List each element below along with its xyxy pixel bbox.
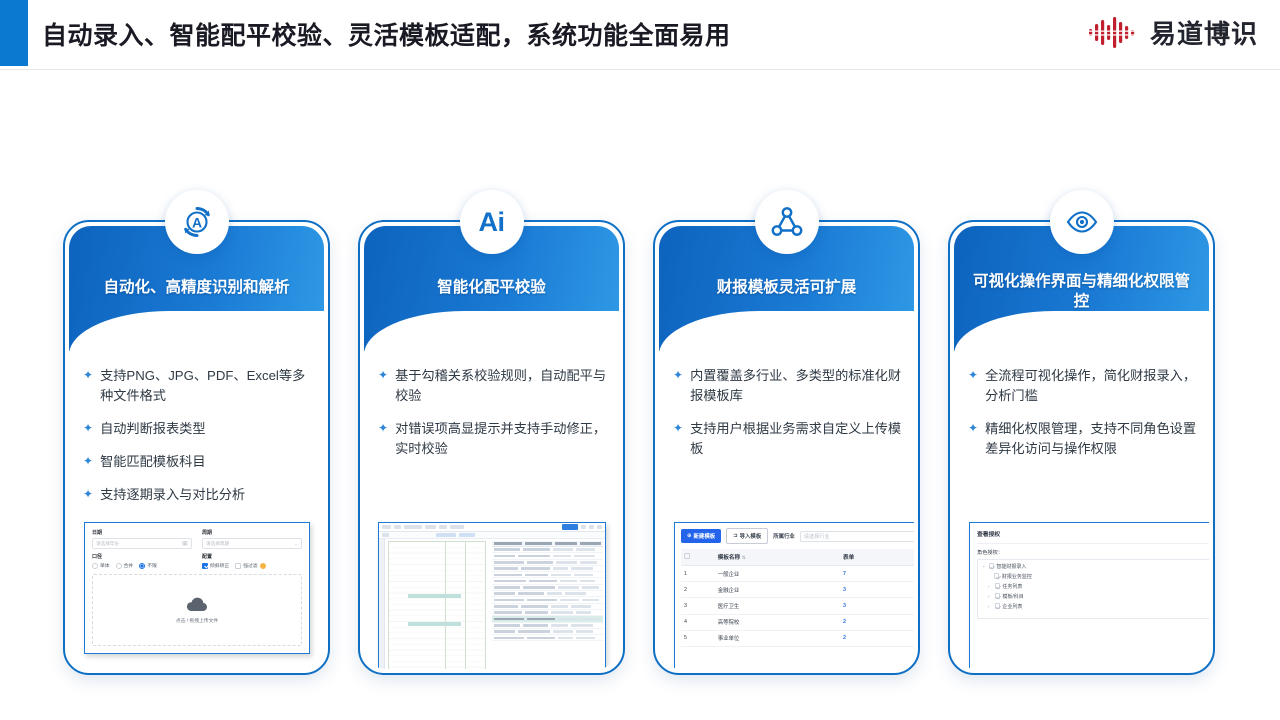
checkbox-icon[interactable] (995, 593, 1000, 598)
card-2-title: 智能化配平校验 (376, 278, 607, 298)
checkbox-icon (684, 553, 690, 559)
bullet-diamond-icon: ✦ (83, 452, 93, 471)
new-template-button[interactable]: ⊕ 新建模板 (681, 529, 721, 543)
checkbox-icon[interactable] (995, 603, 1000, 608)
tree-node-label: 企业列表 (1002, 603, 1022, 610)
toolbar-chip (589, 525, 594, 529)
tree-node[interactable]: › 任务列表 (982, 583, 1209, 590)
checkbox-checked-icon (202, 563, 208, 569)
bullet-label: 智能匹配模板科目 (100, 452, 206, 472)
file-dropzone[interactable]: 点击 / 拖拽上传文件 (92, 574, 302, 646)
row-name: 医疗卫生 (715, 598, 840, 614)
header-accent-bar (0, 0, 28, 66)
list-item: ✦ 内置覆盖多行业、多类型的标准化财报模板库 (673, 366, 903, 406)
cloud-upload-icon (186, 597, 208, 613)
sort-icon: ⇅ (742, 555, 746, 560)
row-name: 事业单位 (715, 630, 840, 646)
dialog-divider (977, 543, 1209, 544)
import-template-label: 导入模板 (740, 532, 762, 540)
toolbar-chip (425, 525, 436, 529)
radio-option-single[interactable]: 单体 (92, 562, 110, 569)
list-item: ✦ 精细化权限管理，支持不同角色设置差异化访问与操作权限 (968, 419, 1198, 459)
document-preview-pane (385, 539, 489, 669)
card-1-bullets: ✦ 支持PNG、JPG、PDF、Excel等多种文件格式 ✦ 自动判断报表类型 … (83, 366, 313, 518)
role-permission-label: 角色授权： (977, 549, 1209, 556)
sheet-column-divider (465, 542, 466, 669)
bullet-label: 对错误项高显提示并支持手动修正，实时校验 (395, 419, 608, 459)
row-index: 3 (681, 598, 715, 614)
radio-icon (116, 563, 122, 569)
highlight-row (408, 622, 461, 626)
row-name: 高等院校 (715, 614, 840, 630)
row-forms-count[interactable]: 7 (840, 566, 914, 582)
caliber-radio-group: 单体 合并 不限 (92, 562, 192, 569)
tree-node-label: 任务列表 (1002, 583, 1022, 590)
chevron-right-icon[interactable]: › (988, 594, 992, 599)
row-name: 金融企业 (715, 582, 840, 598)
ai-icon-label: Ai (479, 209, 505, 236)
card-2-screenshot-financial-view (378, 522, 606, 669)
bullet-label: 支持用户根据业务需求自定义上传模板 (690, 419, 903, 459)
industry-filter-label: 所属行业 (773, 532, 795, 540)
app-toolbar (379, 523, 605, 532)
radio-selected-icon (139, 563, 145, 569)
table-row (492, 635, 603, 641)
template-table: 模板名称 ⇅ 表单 1 一般企业 7 2 (681, 549, 914, 647)
list-item: ✦ 支持用户根据业务需求自定义上传模板 (673, 419, 903, 459)
brand-mark-icon (1088, 16, 1140, 50)
toolbar-chip (597, 525, 602, 529)
list-item: ✦ 全流程可视化操作，简化财报录入，分析门槛 (968, 366, 1198, 406)
row-index: 4 (681, 614, 715, 630)
table-row[interactable]: 1 一般企业 7 (681, 566, 914, 582)
list-item: ✦ 支持PNG、JPG、PDF、Excel等多种文件格式 (83, 366, 313, 406)
tree-node-label: 智能财报录入 (996, 563, 1026, 570)
radio-label: 不限 (147, 562, 157, 569)
feature-card-1: 自动化、高精度识别和解析 ✦ 支持PNG、JPG、PDF、Excel等多种文件格… (63, 220, 330, 675)
chevron-down-icon[interactable]: ⌄ (982, 563, 986, 569)
config-checkbox-group: 倾斜矫正 强过滤 (202, 562, 302, 569)
page-header: 自动录入、智能配平校验、灵活模板适配，系统功能全面易用 易道博识 (0, 0, 1280, 70)
date-field-label: 日期 (92, 529, 192, 536)
period-select[interactable]: 请选择周期 ⌄ (202, 538, 302, 549)
dropzone-caption: 点击 / 拖拽上传文件 (176, 617, 218, 624)
period-placeholder: 请选择周期 (206, 541, 229, 547)
column-header (555, 542, 576, 545)
sheet-column-divider (445, 542, 446, 669)
config-group-label: 配置 (202, 553, 302, 560)
toolbar-chip (450, 525, 464, 529)
tree-node-label: 模板/科目 (1002, 593, 1023, 600)
table-header-row: 模板名称 ⇅ 表单 (681, 549, 914, 566)
bullet-diamond-icon: ✦ (968, 366, 978, 385)
checkbox-label: 倾斜矫正 (210, 562, 229, 569)
card-3-bullets: ✦ 内置覆盖多行业、多类型的标准化财报模板库 ✦ 支持用户根据业务需求自定义上传… (673, 366, 903, 472)
list-item: ✦ 基于勾稽关系校验规则，自动配平与校验 (378, 366, 608, 406)
eye-icon (1050, 190, 1114, 254)
checkbox-icon[interactable] (989, 563, 994, 568)
bullet-diamond-icon: ✦ (83, 366, 93, 385)
checkbox-option-strongfilter[interactable]: 强过滤 (235, 562, 265, 569)
permission-tree: ⌄ 智能财报录入 财报业务监控 › 任务列表 › (977, 559, 1209, 619)
table-row[interactable]: 2 金融企业 3 (681, 582, 914, 598)
row-forms-count[interactable]: 2 (840, 614, 914, 630)
template-table-body: 1 一般企业 7 2 金融企业 3 3 医疗卫生 3 (681, 566, 914, 647)
chevron-down-icon: ⌄ (294, 541, 298, 547)
radio-option-any[interactable]: 不限 (139, 562, 157, 569)
bullet-label: 基于勾稽关系校验规则，自动配平与校验 (395, 366, 608, 406)
bullet-diamond-icon: ✦ (83, 485, 93, 504)
radio-icon (92, 563, 98, 569)
toolbar-primary-button[interactable] (562, 524, 578, 530)
column-header (580, 542, 601, 545)
list-item: ✦ 支持逐期录入与对比分析 (83, 485, 313, 505)
warning-icon (260, 563, 266, 569)
forms-header: 表单 (840, 549, 914, 566)
app-subtoolbar (379, 532, 605, 539)
bullet-label: 精细化权限管理，支持不同角色设置差异化访问与操作权限 (985, 419, 1198, 459)
card-1-screenshot-upload-form: 日期 请选择年份 🗓 周期 请选择周期 ⌄ (84, 522, 310, 654)
toolbar-chip (394, 525, 401, 529)
card-4-bullets: ✦ 全流程可视化操作，简化财报录入，分析门槛 ✦ 精细化权限管理，支持不同角色设… (968, 366, 1198, 472)
svg-text:A: A (191, 214, 201, 230)
checkbox-icon[interactable] (995, 583, 1000, 588)
toolbar-chip (382, 525, 391, 529)
checkbox-icon[interactable] (994, 573, 999, 578)
card-1-inner: 自动化、高精度识别和解析 ✦ 支持PNG、JPG、PDF、Excel等多种文件格… (69, 226, 324, 669)
subtoolbar-chip (382, 533, 389, 537)
toolbar-chip (581, 525, 586, 529)
row-forms-count[interactable]: 2 (840, 630, 914, 646)
feature-cards-stage: 自动化、高精度识别和解析 ✦ 支持PNG、JPG、PDF、Excel等多种文件格… (0, 70, 1280, 720)
card-1-title: 自动化、高精度识别和解析 (81, 278, 312, 298)
column-header (525, 542, 553, 545)
checkbox-option-deskew[interactable]: 倾斜矫正 (202, 562, 229, 569)
bullet-label: 自动判断报表类型 (100, 419, 206, 439)
tree-node[interactable]: › 企业列表 (982, 603, 1209, 610)
row-index: 1 (681, 566, 715, 582)
column-header (494, 542, 522, 545)
split-panes (379, 539, 605, 669)
bullet-diamond-icon: ✦ (83, 419, 93, 438)
table-row[interactable]: 3 医疗卫生 3 (681, 598, 914, 614)
subtoolbar-chip (459, 533, 475, 537)
date-input[interactable]: 请选择年份 🗓 (92, 538, 192, 549)
feature-card-4: 可视化操作界面与精细化权限管控 ✦ 全流程可视化操作，简化财报录入，分析门槛 ✦… (948, 220, 1215, 675)
bullet-label: 支持PNG、JPG、PDF、Excel等多种文件格式 (100, 366, 313, 406)
select-all-header[interactable] (681, 549, 715, 566)
card-4-screenshot-permission-dialog: 查看授权 ✕ 角色授权： ⌄ 智能财报录入 财报业务监控 › (969, 522, 1209, 669)
industry-filter-select[interactable]: 请选择行业 (800, 531, 914, 542)
share-nodes-icon (755, 190, 819, 254)
radio-option-merged[interactable]: 合并 (116, 562, 134, 569)
document-sheet (388, 541, 486, 669)
template-name-header-label: 模板名称 (718, 555, 740, 561)
card-3-title: 财报模板灵活可扩展 (671, 278, 902, 298)
import-icon: ⊐ (733, 533, 738, 539)
card-3-inner: 财报模板灵活可扩展 ✦ 内置覆盖多行业、多类型的标准化财报模板库 ✦ 支持用户根… (659, 226, 914, 669)
radio-label: 合并 (124, 562, 134, 569)
row-forms-count[interactable]: 3 (840, 598, 914, 614)
toolbar-chip (439, 525, 447, 529)
chevron-right-icon[interactable]: › (988, 604, 992, 609)
list-item: ✦ 对错误项高显提示并支持手动修正，实时校验 (378, 419, 608, 459)
table-row[interactable]: 5 事业单位 2 (681, 630, 914, 646)
card-2-inner: 智能化配平校验 ✦ 基于勾稽关系校验规则，自动配平与校验 ✦ 对错误项高显提示并… (364, 226, 619, 669)
bullet-label: 内置覆盖多行业、多类型的标准化财报模板库 (690, 366, 903, 406)
checkbox-label: 强过滤 (243, 562, 257, 569)
tree-node[interactable]: 财报业务监控 (982, 573, 1209, 580)
feature-card-2: 智能化配平校验 ✦ 基于勾稽关系校验规则，自动配平与校验 ✦ 对错误项高显提示并… (358, 220, 625, 675)
table-toolbar: ⊕ 新建模板 ⊐ 导入模板 所属行业 请选择行业 (681, 528, 914, 544)
industry-filter-placeholder: 请选择行业 (804, 533, 830, 540)
bullet-label: 支持逐期录入与对比分析 (100, 485, 245, 505)
page-title: 自动录入、智能配平校验、灵活模板适配，系统功能全面易用 (42, 16, 731, 52)
auto-refresh-a-icon: A (165, 190, 229, 254)
bullet-diamond-icon: ✦ (968, 419, 978, 438)
card-3-screenshot-template-table: ⊕ 新建模板 ⊐ 导入模板 所属行业 请选择行业 (674, 522, 914, 669)
plus-circle-icon: ⊕ (687, 533, 692, 539)
import-template-button[interactable]: ⊐ 导入模板 (726, 528, 768, 544)
bullet-diamond-icon: ✦ (378, 419, 388, 438)
calendar-icon: 🗓 (182, 541, 188, 547)
date-placeholder: 请选择年份 (96, 541, 119, 547)
data-table-pane (489, 539, 605, 669)
new-template-label: 新建模板 (694, 532, 716, 540)
chevron-right-icon[interactable]: › (988, 584, 992, 589)
list-item: ✦ 智能匹配模板科目 (83, 452, 313, 472)
card-2-bullets: ✦ 基于勾稽关系校验规则，自动配平与校验 ✦ 对错误项高显提示并支持手动修正，实… (378, 366, 608, 472)
toolbar-chip (404, 525, 422, 529)
subtoolbar-chip (436, 533, 456, 537)
dialog-title: 查看授权 (977, 529, 1209, 538)
period-field-label: 周期 (202, 529, 302, 536)
table-row[interactable]: 4 高等院校 2 (681, 614, 914, 630)
ai-icon: Ai (460, 190, 524, 254)
list-item: ✦ 自动判断报表类型 (83, 419, 313, 439)
feature-card-3: 财报模板灵活可扩展 ✦ 内置覆盖多行业、多类型的标准化财报模板库 ✦ 支持用户根… (653, 220, 920, 675)
card-4-title: 可视化操作界面与精细化权限管控 (966, 272, 1197, 312)
checkbox-icon (235, 563, 241, 569)
row-forms-count[interactable]: 3 (840, 582, 914, 598)
highlight-row (408, 594, 461, 598)
bullet-diamond-icon: ✦ (378, 366, 388, 385)
template-name-header[interactable]: 模板名称 ⇅ (715, 549, 840, 566)
bullet-label: 全流程可视化操作，简化财报录入，分析门槛 (985, 366, 1198, 406)
bullet-diamond-icon: ✦ (673, 419, 683, 438)
brand-name: 易道博识 (1150, 14, 1258, 51)
caliber-group-label: 口径 (92, 553, 192, 560)
row-index: 5 (681, 630, 715, 646)
bullet-diamond-icon: ✦ (673, 366, 683, 385)
tree-node[interactable]: ⌄ 智能财报录入 (982, 563, 1209, 570)
radio-label: 单体 (100, 562, 110, 569)
row-index: 2 (681, 582, 715, 598)
tree-node-label: 财报业务监控 (1002, 573, 1032, 580)
row-name: 一般企业 (715, 566, 840, 582)
card-4-inner: 可视化操作界面与精细化权限管控 ✦ 全流程可视化操作，简化财报录入，分析门槛 ✦… (954, 226, 1209, 669)
tree-node[interactable]: › 模板/科目 (982, 593, 1209, 600)
brand-logo: 易道博识 (1088, 14, 1258, 51)
